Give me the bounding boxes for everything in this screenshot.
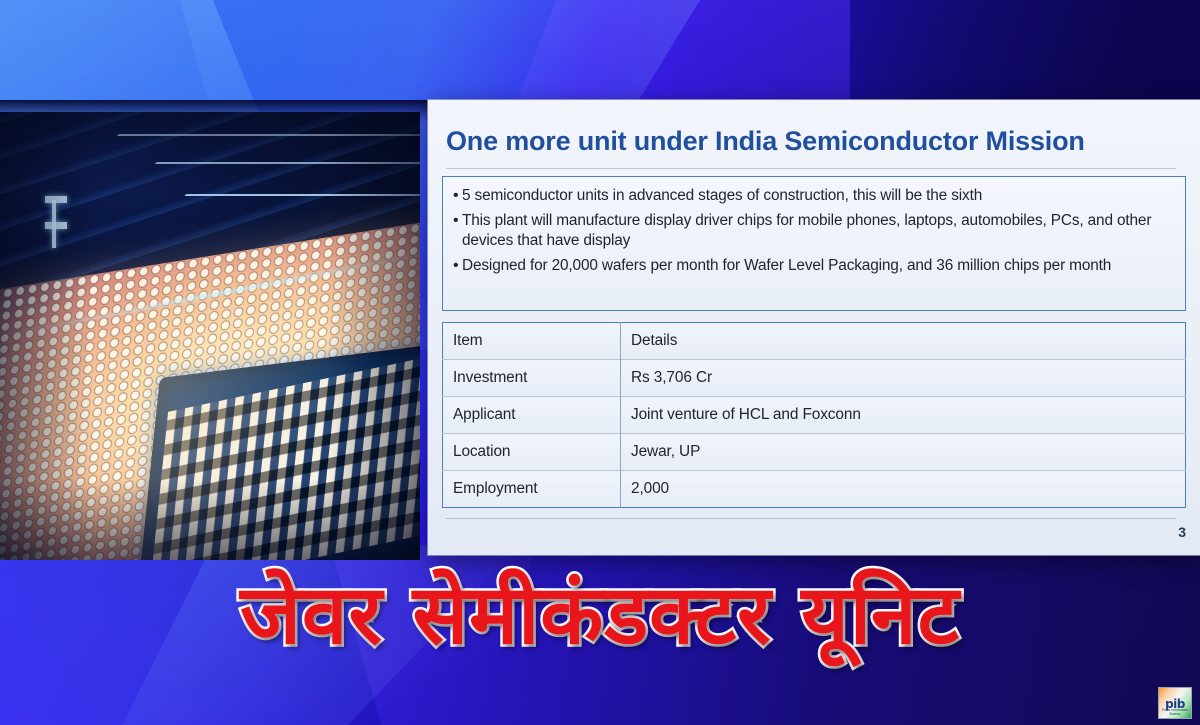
table-row: Location Jewar, UP — [443, 434, 1186, 471]
title-divider — [446, 168, 1176, 169]
bullet-text: Designed for 20,000 wafers per month for… — [462, 256, 1175, 277]
pib-logo: pib Press Information Bureau — [1158, 687, 1192, 719]
bullet-item: • 5 semiconductor units in advanced stag… — [453, 186, 1175, 207]
table-cell-item: Applicant — [443, 397, 621, 434]
table-cell-item: Employment — [443, 471, 621, 508]
bullet-dot-icon: • — [453, 256, 462, 276]
table-header-details: Details — [621, 323, 1186, 360]
table-row: Investment Rs 3,706 Cr — [443, 360, 1186, 397]
pib-logo-subtext: Press Information Bureau — [1159, 708, 1191, 716]
bullet-dot-icon: • — [453, 211, 462, 231]
table-row: Applicant Joint venture of HCL and Foxco… — [443, 397, 1186, 434]
table-row: Employment 2,000 — [443, 471, 1186, 508]
bullet-text: 5 semiconductor units in advanced stages… — [462, 186, 1175, 207]
headline-banner: जेवर सेमीकंडक्टर यूनिट — [0, 556, 1200, 676]
table-cell-details: Jewar, UP — [621, 434, 1186, 471]
details-table: Item Details Investment Rs 3,706 Cr Appl… — [442, 322, 1186, 508]
slide-page-number: 3 — [1178, 524, 1186, 540]
bullet-text: This plant will manufacture display driv… — [462, 211, 1175, 252]
semiconductor-wafer-photo — [0, 112, 420, 560]
bullet-item: • Designed for 20,000 wafers per month f… — [453, 256, 1175, 277]
table-cell-item: Investment — [443, 360, 621, 397]
slide-footer-divider — [446, 518, 1176, 519]
table-cell-details: 2,000 — [621, 471, 1186, 508]
table-cell-details: Joint venture of HCL and Foxconn — [621, 397, 1186, 434]
bullet-dot-icon: • — [453, 186, 462, 206]
bullet-list-box: • 5 semiconductor units in advanced stag… — [442, 176, 1186, 311]
table-cell-item: Location — [443, 434, 621, 471]
presentation-slide-panel: One more unit under India Semiconductor … — [428, 100, 1200, 555]
table-row: Item Details — [443, 323, 1186, 360]
bullet-item: • This plant will manufacture display dr… — [453, 211, 1175, 252]
news-graphic-stage: One more unit under India Semiconductor … — [0, 0, 1200, 725]
headline-text: जेवर सेमीकंडक्टर यूनिट — [240, 575, 960, 657]
table-header-item: Item — [443, 323, 621, 360]
table-cell-details: Rs 3,706 Cr — [621, 360, 1186, 397]
photo-vignette — [0, 112, 420, 560]
slide-title: One more unit under India Semiconductor … — [446, 126, 1085, 157]
